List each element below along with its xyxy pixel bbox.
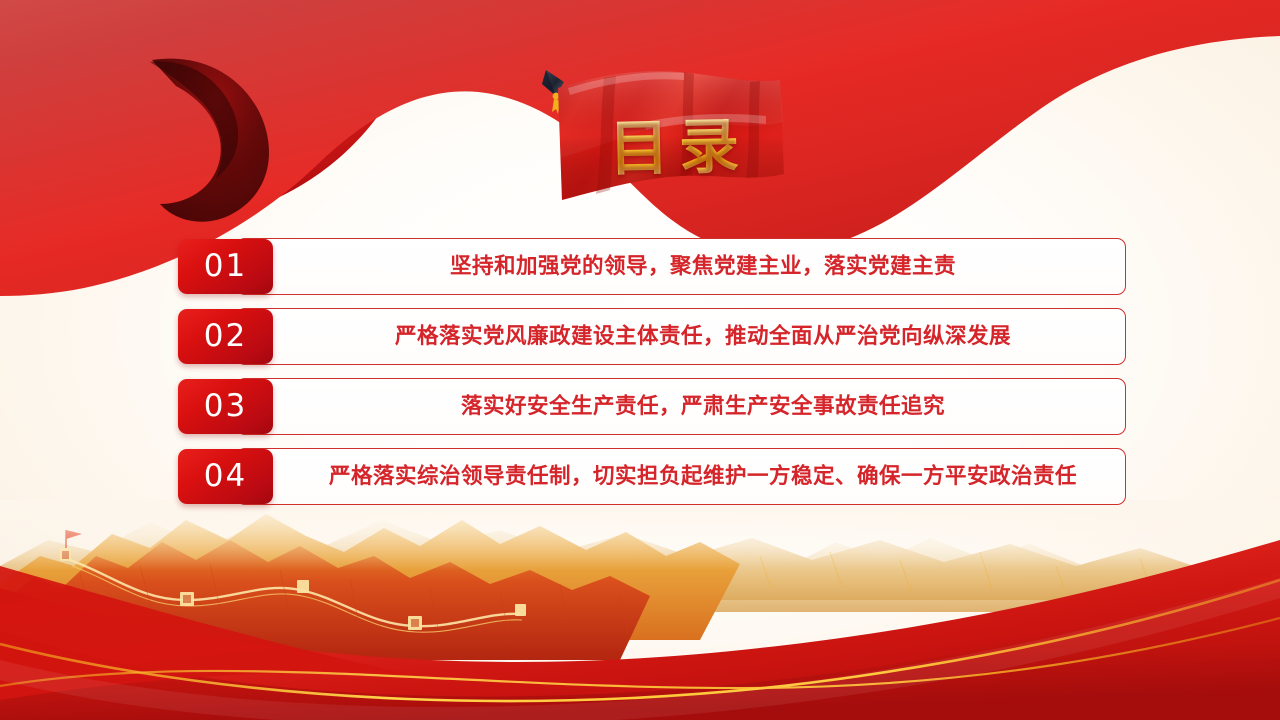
presentation-slide: 目录 坚持和加强党的领导，聚焦党建主业，落实党建主责 01 严格落实党风廉政建设… <box>0 0 1280 720</box>
toc-item-04-number-badge: 04 <box>178 449 273 504</box>
toc-item-03-body[interactable]: 落实好安全生产责任，严肃生产安全事故责任追究 <box>236 378 1126 435</box>
toc-item-03-number-badge: 03 <box>178 379 273 434</box>
toc-item-04-label: 严格落实综治领导责任制，切实担负起维护一方稳定、确保一方平安政治责任 <box>329 466 1077 488</box>
toc-item-04-body[interactable]: 严格落实综治领导责任制，切实担负起维护一方稳定、确保一方平安政治责任 <box>236 448 1126 505</box>
toc-item-03[interactable]: 落实好安全生产责任，严肃生产安全事故责任追究 03 <box>178 378 1126 435</box>
page-title-text: 目录 <box>608 117 749 180</box>
toc-item-02-number: 02 <box>204 321 247 352</box>
toc-item-01[interactable]: 坚持和加强党的领导，聚焦党建主业，落实党建主责 01 <box>178 238 1126 295</box>
toc-item-01-number: 01 <box>204 251 247 282</box>
toc-item-04[interactable]: 严格落实综治领导责任制，切实担负起维护一方稳定、确保一方平安政治责任 04 <box>178 448 1126 505</box>
toc-item-02-label: 严格落实党风廉政建设主体责任，推动全面从严治党向纵深发展 <box>395 326 1011 348</box>
toc-item-03-number: 03 <box>204 391 247 422</box>
toc-item-02-body[interactable]: 严格落实党风廉政建设主体责任，推动全面从严治党向纵深发展 <box>236 308 1126 365</box>
toc-item-01-body[interactable]: 坚持和加强党的领导，聚焦党建主业，落实党建主责 <box>236 238 1126 295</box>
toc-item-02-number-badge: 02 <box>178 309 273 364</box>
toc-item-01-label: 坚持和加强党的领导，聚焦党建主业，落实党建主责 <box>450 256 956 278</box>
table-of-contents: 坚持和加强党的领导，聚焦党建主业，落实党建主责 01 严格落实党风廉政建设主体责… <box>178 238 1126 505</box>
toc-item-03-label: 落实好安全生产责任，严肃生产安全事故责任追究 <box>461 396 945 418</box>
toc-item-04-number: 04 <box>204 461 247 492</box>
toc-item-02[interactable]: 严格落实党风廉政建设主体责任，推动全面从严治党向纵深发展 02 <box>178 308 1126 365</box>
toc-item-01-number-badge: 01 <box>178 239 273 294</box>
title-flag: 目录 <box>534 62 794 222</box>
page-title: 目录 <box>534 62 794 222</box>
